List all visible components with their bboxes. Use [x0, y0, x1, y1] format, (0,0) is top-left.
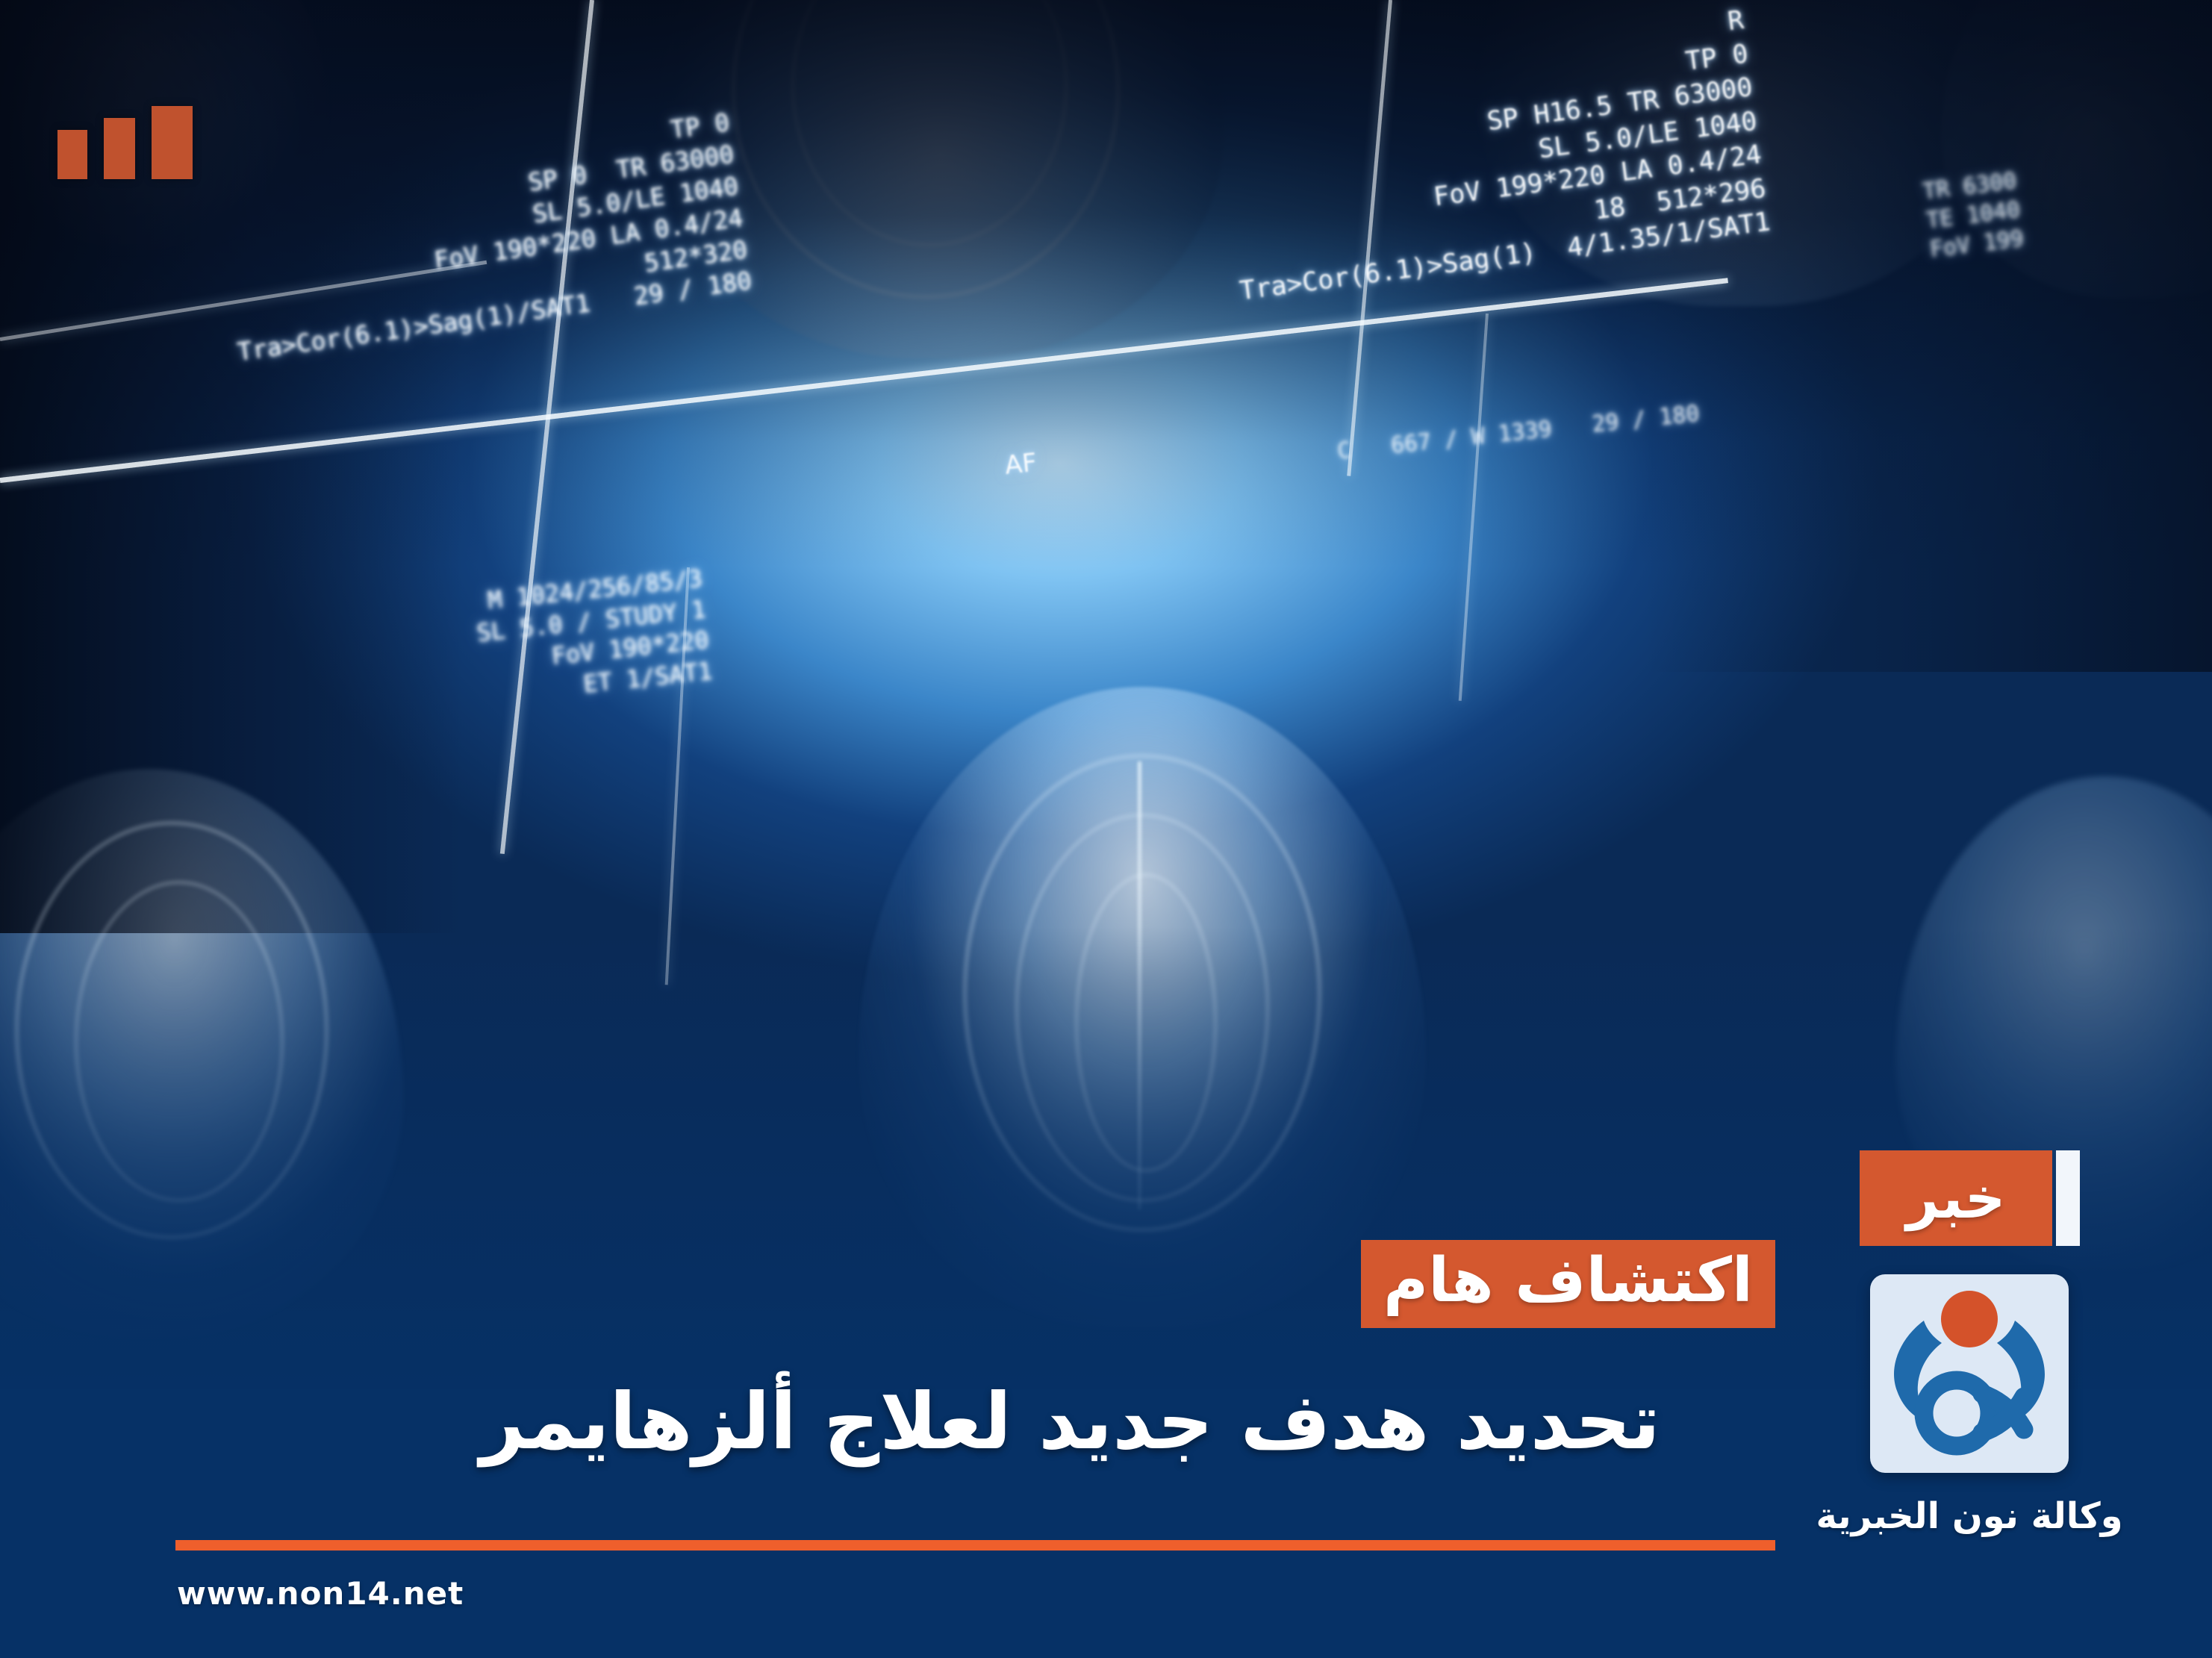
logo-arms-and-noon-shape — [1870, 1274, 2069, 1473]
logo-bar-1 — [152, 106, 193, 179]
orange-divider — [175, 1540, 1775, 1551]
logo-bar-3 — [57, 130, 87, 179]
news-badge-label: خبر — [1906, 1170, 2005, 1227]
brand-block: خبر وكالة نون الخبرية — [1835, 1150, 2104, 1534]
agency-name: وكالة نون الخبرية — [1816, 1498, 2122, 1534]
website-url[interactable]: www.non14.net — [177, 1575, 464, 1612]
news-card: R TP 0 SP H16.5 TR 63000 SL 5.0/LE 1040 … — [0, 0, 2212, 1658]
news-badge-tick — [2056, 1150, 2080, 1246]
noon-agency-logo-icon — [1870, 1274, 2069, 1473]
kicker-badge: اكتشاف هام — [1361, 1240, 1775, 1328]
news-badge: خبر — [1860, 1150, 2080, 1246]
photo-right-vignette — [1645, 0, 2212, 672]
logo-bar-2 — [104, 118, 135, 179]
three-bars-logo-icon — [57, 106, 193, 179]
page-title: تحديد هدف جديد لعلاج ألزهايمر — [480, 1375, 1898, 1468]
